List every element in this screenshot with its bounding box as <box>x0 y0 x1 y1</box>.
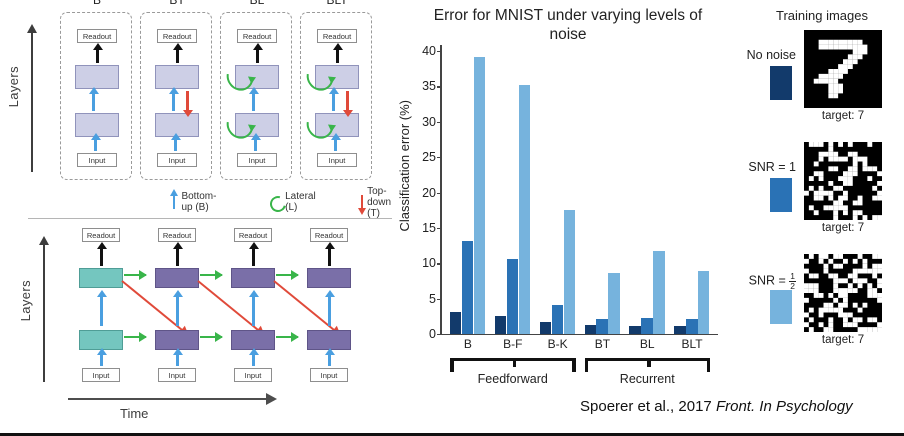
lateral-green-bottom-2 <box>200 336 222 338</box>
bar-b-series-1 <box>450 312 461 333</box>
timestep-column-3: ReadoutInput <box>230 222 282 390</box>
bar-b-series-2 <box>462 241 473 334</box>
bar-bl-series-1 <box>629 326 640 334</box>
bar-b-f-series-2 <box>507 259 518 334</box>
citation-authors: Spoerer et al., 2017 <box>580 398 716 415</box>
input-box: Input <box>234 368 272 382</box>
legend-swatch-3 <box>770 290 792 324</box>
mnist-sample-image-1 <box>804 30 882 108</box>
input-box: Input <box>317 153 357 167</box>
bar-b-k-series-1 <box>540 322 551 333</box>
arch-panel-b: BReadoutInput <box>60 12 132 180</box>
bar-b-f-series-1 <box>495 316 506 334</box>
lateral-loop-icon <box>268 193 280 211</box>
arch-panel-title: B <box>61 0 133 7</box>
bracket-tick-recurrent <box>647 358 651 367</box>
arch-panel-bt: BTReadoutInput <box>140 12 212 180</box>
bar-blt-series-1 <box>674 326 685 334</box>
bar-b-f-series-3 <box>519 85 530 334</box>
lateral-green-bottom-3 <box>276 336 298 338</box>
arch-panel-blt: BLTReadoutInput <box>300 12 372 180</box>
arch-panel-bl: BLReadoutInput <box>220 12 292 180</box>
timestep-column-4: ReadoutInput <box>306 222 358 390</box>
time-axis-label: Time <box>120 406 148 421</box>
bar-blt-series-2 <box>686 319 697 334</box>
chart-title: Error for MNIST under varying levels of … <box>418 6 718 44</box>
input-box: Input <box>82 368 120 382</box>
slide-root: Layers BReadoutInputBTReadoutInputBLRead… <box>0 0 904 436</box>
layer-2-box <box>79 268 123 288</box>
arch-panel-title: BLT <box>301 0 373 7</box>
y-tick-30: 30 <box>410 115 436 129</box>
x-tick-b-f: B-F <box>495 337 531 351</box>
y-axis-line <box>440 45 442 335</box>
readout-box: Readout <box>310 228 348 242</box>
readout-box: Readout <box>77 29 117 43</box>
layer-2-box <box>155 268 199 288</box>
y-tick-25: 25 <box>410 150 436 164</box>
citation: Spoerer et al., 2017 Front. In Psycholog… <box>580 398 853 415</box>
input-box: Input <box>158 368 196 382</box>
plot-area: 0510152025303540 BB-FB-KBTBLBLT <box>440 45 718 335</box>
x-axis-line <box>440 334 718 336</box>
layer-2-box <box>155 65 199 89</box>
layer-1-box <box>231 330 275 350</box>
bar-b-k-series-2 <box>552 305 563 334</box>
training-image-row-2: SNR = 1target: 7 <box>740 140 904 252</box>
bar-chart: Error for MNIST under varying levels of … <box>398 0 738 400</box>
y-tick-40: 40 <box>410 44 436 58</box>
input-box: Input <box>310 368 348 382</box>
layer-1-box <box>155 330 199 350</box>
bar-bt-series-2 <box>596 319 607 333</box>
x-tick-b-k: B-K <box>540 337 576 351</box>
legend-top-down: Top-down (T) <box>354 186 399 219</box>
lateral-green-top-1 <box>124 274 146 276</box>
readout-box: Readout <box>317 29 357 43</box>
layers-axis-arrow-top <box>31 32 33 172</box>
arch-panel-title: BT <box>141 0 213 7</box>
timestep-column-1: ReadoutInput <box>78 222 130 390</box>
noise-level-label-2: SNR = 1 <box>748 160 796 174</box>
bracket-tick-feedforward <box>513 358 517 367</box>
bracket-label-recurrent: Recurrent <box>565 372 731 386</box>
timestep-column-2: ReadoutInput <box>154 222 206 390</box>
training-images-panel: Training images No noisetarget: 7SNR = 1… <box>740 0 904 400</box>
layer-2-box <box>75 65 119 89</box>
legend-bottom-up-label: Bottom-up (B) <box>181 191 222 213</box>
time-axis-arrow <box>68 398 268 400</box>
bar-blt-series-3 <box>698 271 709 333</box>
mnist-sample-image-2 <box>804 142 882 220</box>
mnist-target-caption-3: target: 7 <box>804 334 882 346</box>
training-image-row-3: SNR = 12target: 7 <box>740 252 904 364</box>
connection-type-legend: Bottom-up (B) Lateral (L) Top-down (T) <box>20 190 392 214</box>
mnist-sample-image-3 <box>804 254 882 332</box>
input-box: Input <box>157 153 197 167</box>
mnist-target-caption-1: target: 7 <box>804 110 882 122</box>
lateral-green-bottom-1 <box>124 336 146 338</box>
y-tick-10: 10 <box>410 256 436 270</box>
noise-level-label-3: SNR = 12 <box>749 272 796 291</box>
bar-b-k-series-3 <box>564 210 575 334</box>
architecture-diagrams: Layers BReadoutInputBTReadoutInputBLRead… <box>0 0 398 433</box>
citation-journal: Front. In Psychology <box>716 398 853 415</box>
input-box: Input <box>77 153 117 167</box>
layers-axis-label-bottom: Layers <box>18 280 33 321</box>
legend-lateral: Lateral (L) <box>268 191 320 213</box>
input-box: Input <box>237 153 277 167</box>
noise-level-label-1: No noise <box>747 48 796 62</box>
readout-box: Readout <box>157 29 197 43</box>
training-image-row-1: No noisetarget: 7 <box>740 28 904 140</box>
layer-1-box <box>79 330 123 350</box>
legend-bottom-up: Bottom-up (B) <box>166 191 222 213</box>
x-tick-blt: BLT <box>674 337 710 351</box>
readout-box: Readout <box>82 228 120 242</box>
layer-1-box <box>307 330 351 350</box>
bar-bl-series-2 <box>641 318 652 334</box>
legend-lateral-label: Lateral (L) <box>285 191 319 213</box>
readout-box: Readout <box>158 228 196 242</box>
bar-bl-series-3 <box>653 251 664 333</box>
x-tick-b: B <box>450 337 486 351</box>
bar-b-series-3 <box>474 57 485 334</box>
readout-box: Readout <box>234 228 272 242</box>
readout-box: Readout <box>237 29 277 43</box>
x-tick-bl: BL <box>629 337 665 351</box>
arch-top-panels: Layers BReadoutInputBTReadoutInputBLRead… <box>0 4 398 190</box>
legend-top-down-label: Top-down (T) <box>367 186 398 219</box>
y-tick-15: 15 <box>410 221 436 235</box>
x-tick-bt: BT <box>585 337 621 351</box>
mnist-target-caption-2: target: 7 <box>804 222 882 234</box>
lateral-green-top-2 <box>200 274 222 276</box>
top-down-arrow-icon <box>354 193 363 211</box>
arch-panel-title: BL <box>221 0 293 7</box>
lateral-green-top-3 <box>276 274 298 276</box>
bottom-up-arrow-icon <box>166 193 176 211</box>
y-tick-35: 35 <box>410 79 436 93</box>
bar-bt-series-3 <box>608 273 619 334</box>
y-tick-20: 20 <box>410 186 436 200</box>
layers-axis-arrow-bottom <box>43 244 45 382</box>
layer-2-box <box>307 268 351 288</box>
arch-unrolled-diagram: Layers ReadoutInputReadoutInputReadoutIn… <box>0 222 398 433</box>
legend-swatch-1 <box>770 66 792 100</box>
bar-bt-series-1 <box>585 325 596 333</box>
y-tick-5: 5 <box>410 292 436 306</box>
y-tick-0: 0 <box>410 327 436 341</box>
legend-swatch-2 <box>770 178 792 212</box>
layer-2-box <box>231 268 275 288</box>
section-divider <box>28 218 392 219</box>
training-images-title: Training images <box>740 8 904 23</box>
layers-axis-label-top: Layers <box>6 66 21 107</box>
